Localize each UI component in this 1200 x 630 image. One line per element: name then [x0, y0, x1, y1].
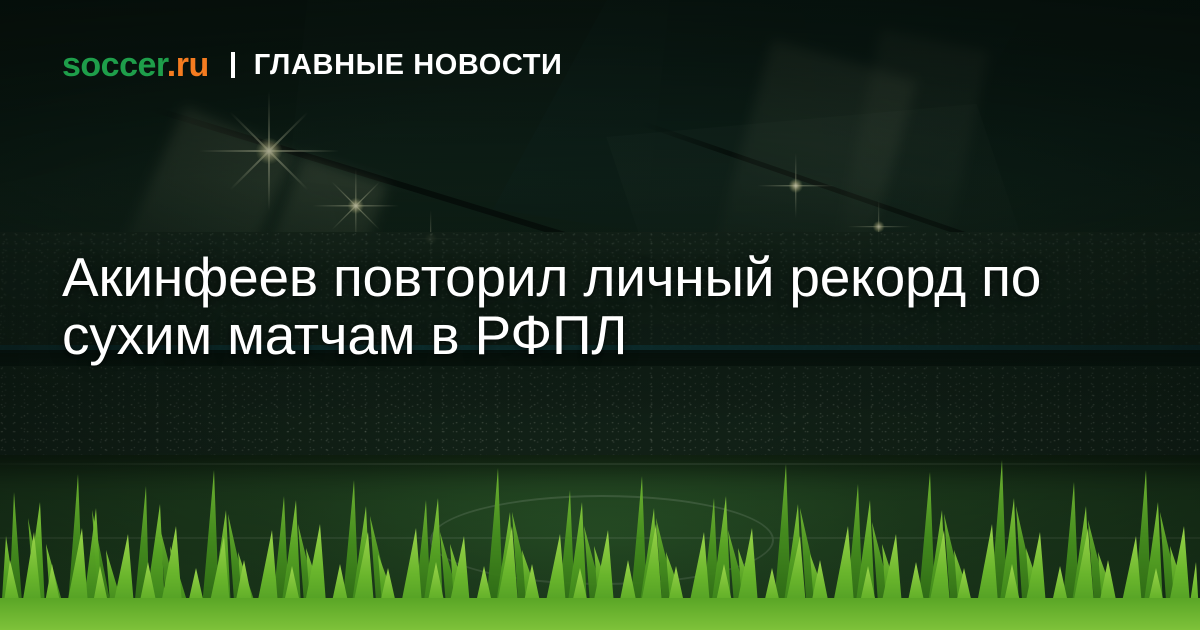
logo-domain: .ru	[167, 46, 209, 84]
card-header: soccer.ru ГЛАВНЫЕ НОВОСТИ	[62, 48, 562, 82]
page-title: Акинфеев повторил личный рекорд по сухим…	[62, 248, 1132, 365]
logo-name: soccer	[62, 46, 167, 84]
header-divider	[231, 52, 235, 78]
news-share-card: soccer.ru ГЛАВНЫЕ НОВОСТИ Акинфеев повто…	[0, 0, 1200, 630]
section-title: ГЛАВНЫЕ НОВОСТИ	[254, 51, 563, 80]
site-logo[interactable]: soccer.ru	[62, 48, 209, 82]
